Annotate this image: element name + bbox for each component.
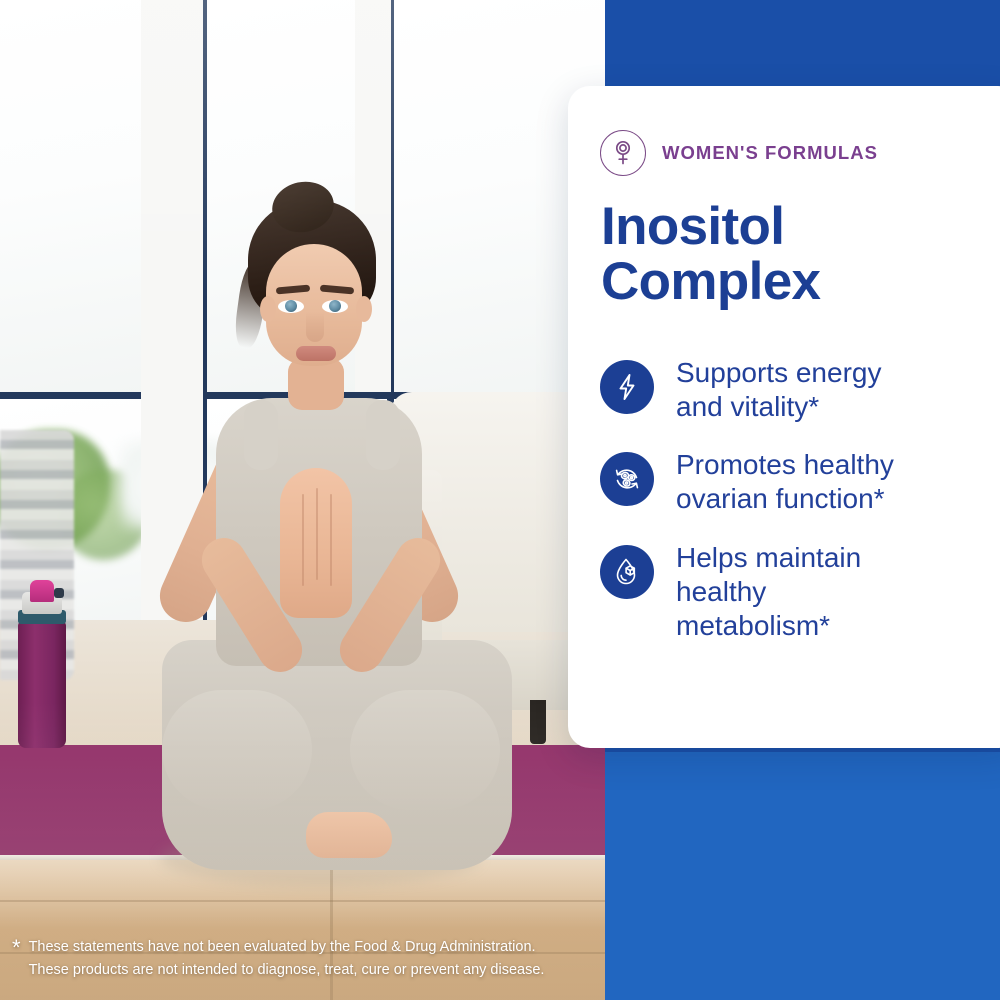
benefit-line-2: ovarian function* [676,483,885,514]
benefit-line-3: metabolism* [676,610,830,641]
finger-line [330,494,332,586]
benefit-line-1: Supports energy [676,357,881,388]
category-badge: WOMEN'S FORMULAS [600,130,878,176]
blue-panel-bottom [605,752,1000,1000]
right-knee [350,690,500,810]
iris [329,300,341,312]
benefit-text: Supports energy and vitality* [676,356,881,424]
foot [306,812,392,858]
ear [356,296,372,322]
water-bottle [18,620,66,748]
disclaimer-line-2: These products are not intended to diagn… [29,962,545,978]
ovary-cells-cycle-icon [600,452,654,506]
water-bottle-hinge [54,588,64,598]
lips [296,346,336,361]
benefit-text: Promotes healthy ovarian function* [676,448,894,516]
finger-line [316,488,318,580]
floor-plank-line [0,900,610,902]
water-drop-sugar-cube-icon [600,545,654,599]
disclaimer-line-1: These statements have not been evaluated… [29,939,536,955]
benefit-line-2: and vitality* [676,391,819,422]
benefit-item: Supports energy and vitality* [600,356,1000,424]
prayer-hands [280,468,352,618]
person-meditating [120,200,540,880]
product-title-line-2: Complex [601,255,1000,310]
water-bottle-spout [30,580,54,602]
marketing-banner: WOMEN'S FORMULAS Inositol Complex Suppor… [0,0,1000,1000]
left-knee [162,690,312,810]
benefit-line-2: healthy [676,576,766,607]
venus-female-symbol-icon [600,130,646,176]
benefit-line-1: Helps maintain [676,542,861,573]
product-title-line-1: Inositol [601,200,1000,255]
iris [285,300,297,312]
lightning-bolt-icon [600,360,654,414]
tank-strap [244,400,278,470]
benefit-line-1: Promotes healthy [676,449,894,480]
tank-strap [366,400,400,470]
category-badge-label: WOMEN'S FORMULAS [662,142,878,164]
disclaimer-asterisk: * [12,936,21,983]
finger-line [302,494,304,586]
disclaimer-body: These statements have not been evaluated… [29,936,545,983]
ear [260,296,276,322]
page-title: Inositol Complex [601,200,1000,309]
benefits-list: Supports energy and vitality* [600,356,1000,667]
benefit-item: Promotes healthy ovarian function* [600,448,1000,516]
benefit-text: Helps maintain healthy metabolism* [676,541,861,643]
fda-disclaimer: * These statements have not been evaluat… [12,936,602,983]
lifestyle-photo [0,0,610,1000]
nose [306,312,324,342]
benefit-item: Helps maintain healthy metabolism* [600,541,1000,643]
